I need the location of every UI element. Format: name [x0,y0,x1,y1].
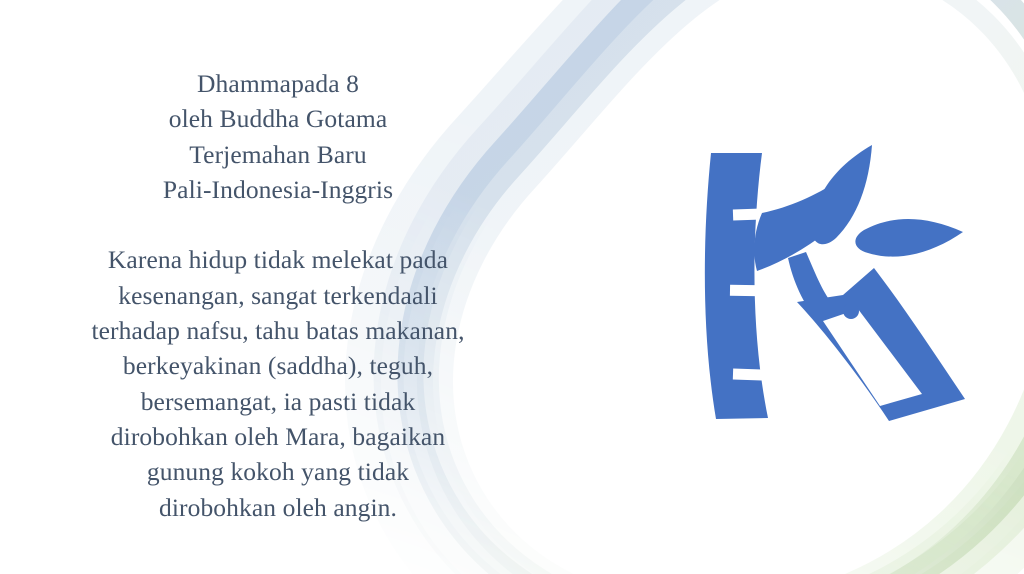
verse-block: Karena hidup tidak melekat pada kesenang… [38,242,518,524]
verse-line: bersemangat, ia pasti tidak [38,384,518,419]
title-line: Terjemahan Baru [38,137,518,172]
k-joint [788,252,834,321]
verse-line: terhadap nafsu, tahu batas makanan, [38,313,518,348]
slide-text-column: Dhammapada 8 oleh Buddha Gotama Terjemah… [38,66,518,525]
verse-line: gunung kokoh yang tidak [38,454,518,489]
verse-line: dirobohkan oleh Mara, bagaikan [38,419,518,454]
ring-band-inner [443,0,1024,574]
stalk-node-2 [730,285,761,297]
verse-line: kesenangan, sangat terkendaali [38,278,518,313]
verse-line: Karena hidup tidak melekat pada [38,242,518,277]
stalk-node-3 [733,369,762,381]
verse-line: berkeyakinan (saddha), teguh, [38,348,518,383]
bamboo-stalk [705,153,768,419]
bamboo-k-logo [705,145,965,421]
paragraph-spacer [38,207,518,242]
k-lower-leg [797,268,965,421]
leaf-upper [812,145,872,244]
title-block: Dhammapada 8 oleh Buddha Gotama Terjemah… [38,66,518,207]
k-upper-arm [754,179,854,271]
leaf-right [855,219,963,257]
title-line: oleh Buddha Gotama [38,101,518,136]
verse-line: dirobohkan oleh angin. [38,490,518,525]
slide-canvas: Dhammapada 8 oleh Buddha Gotama Terjemah… [0,0,1024,574]
title-line: Dhammapada 8 [38,66,518,101]
title-line: Pali-Indonesia-Inggris [38,172,518,207]
leg-dot [843,303,859,319]
stalk-node-1 [733,208,762,220]
